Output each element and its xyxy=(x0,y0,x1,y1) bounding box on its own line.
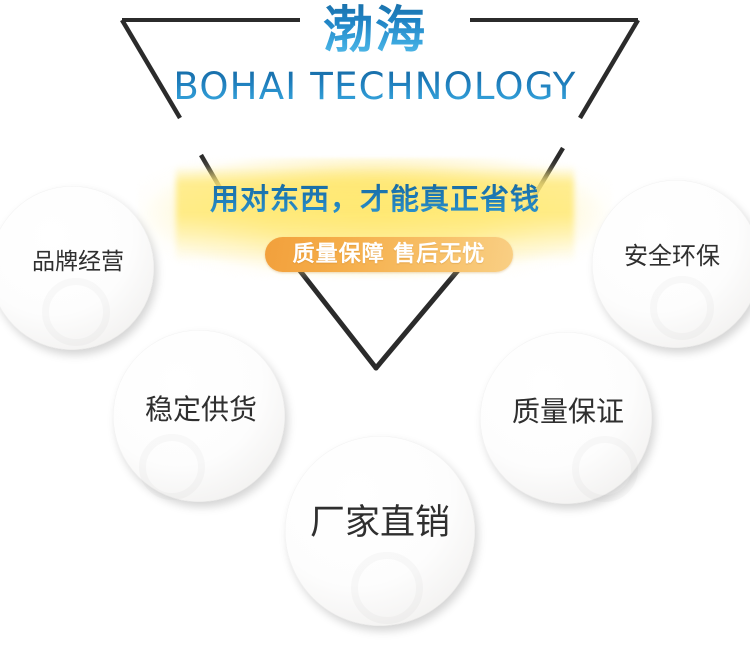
circle-watermark-icon xyxy=(42,278,110,346)
feature-circle-stable-supply[interactable]: 稳定供货 xyxy=(113,330,285,502)
feature-label-brand-operation: 品牌经营 xyxy=(32,251,124,274)
feature-label-quality-assurance: 质量保证 xyxy=(512,398,624,426)
feature-label-stable-supply: 稳定供货 xyxy=(145,396,257,424)
feature-label-factory-direct: 厂家直销 xyxy=(310,506,450,541)
feature-circle-safe-eco[interactable]: 安全环保 xyxy=(592,180,750,348)
circle-watermark-icon xyxy=(650,276,714,340)
feature-circle-quality-assurance[interactable]: 质量保证 xyxy=(480,332,652,504)
brand-logo-chinese: 渤海 xyxy=(0,1,750,59)
service-guarantee-badge: 质量保障 售后无忧 xyxy=(265,237,513,272)
circle-watermark-icon xyxy=(351,552,423,624)
feature-label-safe-eco: 安全环保 xyxy=(624,244,720,268)
brand-logo-english: BOHAI TECHNOLOGY xyxy=(0,66,750,108)
service-guarantee-badge-label: 质量保障 售后无忧 xyxy=(293,244,486,266)
promo-banner: 渤海 BOHAI TECHNOLOGY 用对东西，才能真正省钱 质量保障 售后无… xyxy=(0,0,750,667)
feature-circle-factory-direct[interactable]: 厂家直销 xyxy=(285,436,475,626)
